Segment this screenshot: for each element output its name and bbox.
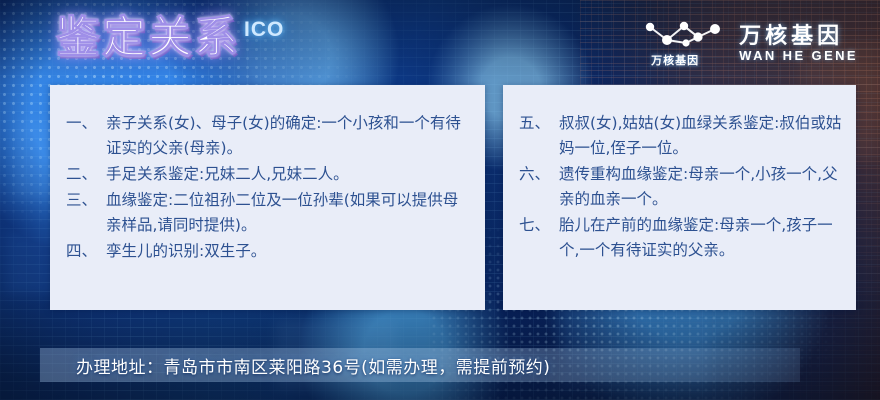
panel-left: 一、 亲子关系(女)、母子(女)的确定:一个小孩和一个有待证实的父亲(母亲)。 … bbox=[50, 85, 485, 310]
title-superscript: ICO bbox=[244, 18, 284, 42]
list-item-number: 二、 bbox=[66, 162, 106, 187]
list-item-number: 四、 bbox=[66, 239, 106, 264]
brand-text-group: 万核基因 WAN HE GENE bbox=[739, 23, 858, 65]
list-item-text: 亲子关系(女)、母子(女)的确定:一个小孩和一个有待证实的父亲(母亲)。 bbox=[106, 111, 471, 161]
list-item-text: 血缘鉴定:二位祖孙二位及一位孙辈(如果可以提供母亲样品,请同时提供)。 bbox=[106, 188, 471, 238]
brand-logo: 万核基因 万核基因 WAN HE GENE bbox=[641, 20, 858, 68]
list-item-text: 叔叔(女),姑姑(女)血绿关系鉴定:叔伯或姑妈一位,侄子一位。 bbox=[559, 111, 846, 161]
list-item-text: 遗传重构血缘鉴定:母亲一个,小孩一个,父亲的血亲一个。 bbox=[559, 162, 846, 212]
list-item-text: 胎儿在产前的血缘鉴定:母亲一个,孩子一个,一个有待证实的父亲。 bbox=[559, 213, 846, 263]
list-item: 一、 亲子关系(女)、母子(女)的确定:一个小孩和一个有待证实的父亲(母亲)。 bbox=[66, 111, 471, 161]
address-bar: 办理地址：青岛市市南区莱阳路36号(如需办理，需提前预约) bbox=[40, 348, 800, 382]
panel-right: 五、 叔叔(女),姑姑(女)血绿关系鉴定:叔伯或姑妈一位,侄子一位。 六、 遗传… bbox=[503, 85, 856, 310]
list-item: 七、 胎儿在产前的血缘鉴定:母亲一个,孩子一个,一个有待证实的父亲。 bbox=[519, 213, 846, 263]
list-item-number: 一、 bbox=[66, 111, 106, 136]
content-panels: 一、 亲子关系(女)、母子(女)的确定:一个小孩和一个有待证实的父亲(母亲)。 … bbox=[50, 85, 856, 310]
brand-name-cn: 万核基因 bbox=[739, 23, 843, 48]
list-item-text: 手足关系鉴定:兄妹二人,兄妹二人。 bbox=[106, 162, 471, 187]
list-item: 三、 血缘鉴定:二位祖孙二位及一位孙辈(如果可以提供母亲样品,请同时提供)。 bbox=[66, 188, 471, 238]
list-item-number: 七、 bbox=[519, 213, 559, 238]
banner-image: 鉴定关系 ICO bbox=[0, 0, 880, 400]
page-title: 鉴定关系 bbox=[56, 16, 240, 60]
brand-name-en: WAN HE GENE bbox=[739, 48, 858, 65]
list-item-number: 六、 bbox=[519, 162, 559, 187]
list-item-text: 孪生儿的识别:双生子。 bbox=[106, 239, 471, 264]
list-item: 五、 叔叔(女),姑姑(女)血绿关系鉴定:叔伯或姑妈一位,侄子一位。 bbox=[519, 111, 846, 161]
address-text: 办理地址：青岛市市南区莱阳路36号(如需办理，需提前预约) bbox=[76, 353, 550, 378]
list-item: 四、 孪生儿的识别:双生子。 bbox=[66, 239, 471, 264]
list-item: 二、 手足关系鉴定:兄妹二人,兄妹二人。 bbox=[66, 162, 471, 187]
banner-title-group: 鉴定关系 ICO bbox=[56, 16, 284, 60]
brand-mark-label: 万核基因 bbox=[651, 52, 699, 68]
list-item-number: 五、 bbox=[519, 111, 559, 136]
list-item: 六、 遗传重构血缘鉴定:母亲一个,小孩一个,父亲的血亲一个。 bbox=[519, 162, 846, 212]
list-item-number: 三、 bbox=[66, 188, 106, 213]
molecule-node-icon: 万核基因 bbox=[641, 20, 727, 68]
